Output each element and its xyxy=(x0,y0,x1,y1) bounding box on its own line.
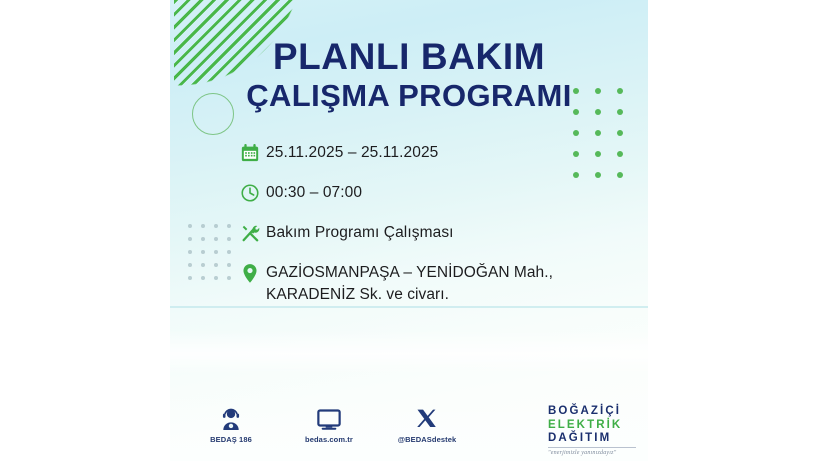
detail-time-text: 00:30 – 07:00 xyxy=(266,181,640,204)
poster-panel: PLANLI BAKIM ÇALIŞMA PROGRAMI xyxy=(170,0,648,461)
brand-logo-line-2: ELEKTRİK xyxy=(548,420,636,432)
dot xyxy=(214,276,218,280)
x-twitter-icon xyxy=(394,404,460,431)
dot xyxy=(573,130,579,136)
dot xyxy=(201,237,205,241)
dot xyxy=(214,250,218,254)
dot-grid-left-decoration xyxy=(188,224,240,289)
contact-x-handle[interactable]: @BEDASdestek xyxy=(394,404,460,444)
contact-call-center[interactable]: BEDAŞ 186 xyxy=(198,404,264,444)
brand-logo-tagline: "enerjimizle yanınızdayız" xyxy=(548,450,636,456)
dot xyxy=(227,276,231,280)
decorative-band-glow xyxy=(170,330,648,374)
detail-row-address: GAZİOSMANPAŞA – YENİDOĞAN Mah., KARADENİ… xyxy=(240,261,640,306)
dot xyxy=(188,250,192,254)
detail-work-type-text: Bakım Programı Çalışması xyxy=(266,221,640,244)
footer-contact-bar: BEDAŞ 186 bedas.com.tr xyxy=(198,404,460,444)
decorative-band-line xyxy=(170,306,648,308)
contact-call-center-label: BEDAŞ 186 xyxy=(198,435,264,444)
brand-logo: BOĞAZİÇİ ELEKTRİK DAĞITIM "enerjimizle y… xyxy=(548,406,636,456)
dot xyxy=(595,130,601,136)
clock-icon xyxy=(240,181,266,205)
detail-row-time: 00:30 – 07:00 xyxy=(240,181,640,205)
detail-address-text: GAZİOSMANPAŞA – YENİDOĞAN Mah., KARADENİ… xyxy=(266,261,640,306)
dot xyxy=(201,250,205,254)
dot xyxy=(227,224,231,228)
dot xyxy=(188,263,192,267)
dot xyxy=(214,237,218,241)
location-pin-icon xyxy=(240,261,266,285)
calendar-icon xyxy=(240,141,266,165)
brand-logo-line-1: BOĞAZİÇİ xyxy=(548,406,636,418)
dot xyxy=(227,237,231,241)
detail-date-text: 25.11.2025 – 25.11.2025 xyxy=(266,141,640,164)
maintenance-details-list: 25.11.2025 – 25.11.2025 00:30 – 07:00 xyxy=(240,141,640,306)
dot xyxy=(201,263,205,267)
dot xyxy=(201,276,205,280)
poster-screenshot: PLANLI BAKIM ÇALIŞMA PROGRAMI xyxy=(0,0,820,461)
dot xyxy=(188,224,192,228)
contact-x-handle-label: @BEDASdestek xyxy=(394,435,460,444)
dot xyxy=(188,276,192,280)
detail-row-work-type: Bakım Programı Çalışması xyxy=(240,221,640,245)
contact-website-label: bedas.com.tr xyxy=(296,435,362,444)
detail-row-date: 25.11.2025 – 25.11.2025 xyxy=(240,141,640,165)
monitor-icon xyxy=(296,404,362,431)
page-title: PLANLI BAKIM xyxy=(170,38,648,76)
dot xyxy=(617,130,623,136)
dot xyxy=(214,224,218,228)
dot xyxy=(214,263,218,267)
brand-logo-line-3: DAĞITIM xyxy=(548,433,636,445)
call-center-agent-icon xyxy=(198,404,264,431)
dot xyxy=(188,237,192,241)
page-subtitle: ÇALIŞMA PROGRAMI xyxy=(170,79,648,114)
dot xyxy=(227,250,231,254)
tools-icon xyxy=(240,221,266,245)
title-block: PLANLI BAKIM ÇALIŞMA PROGRAMI xyxy=(170,38,648,113)
dot xyxy=(201,224,205,228)
brand-logo-divider xyxy=(548,447,636,448)
dot xyxy=(227,263,231,267)
contact-website[interactable]: bedas.com.tr xyxy=(296,404,362,444)
